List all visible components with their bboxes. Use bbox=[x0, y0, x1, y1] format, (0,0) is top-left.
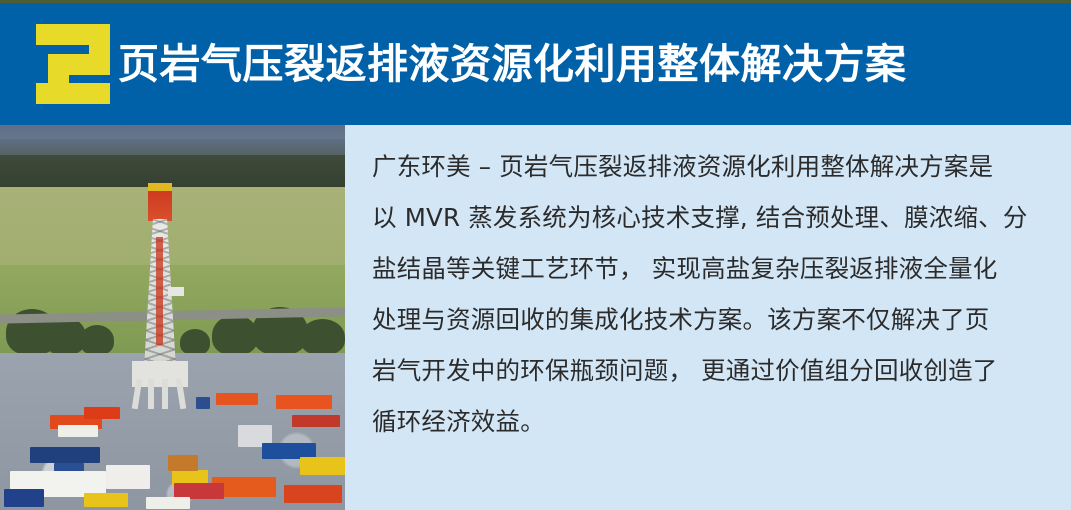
description-line: 处理与资源回收的集成化技术方案。该方案不仅解决了页 bbox=[372, 294, 1048, 345]
photo-equipment-unit bbox=[300, 457, 345, 475]
drilling-rig-photo bbox=[0, 125, 345, 510]
section-body: 广东环美 – 页岩气压裂返排液资源化利用整体解决方案是 以 MVR 蒸发系统为核… bbox=[0, 125, 1071, 510]
photo-drilling-derrick bbox=[142, 183, 178, 383]
derrick-legs bbox=[132, 379, 188, 409]
photo-equipment-unit bbox=[276, 395, 332, 409]
description-text: 广东环美 – 页岩气压裂返排液资源化利用整体解决方案是 以 MVR 蒸发系统为核… bbox=[372, 141, 1048, 447]
photo-equipment-unit bbox=[284, 485, 342, 503]
photo-equipment-unit bbox=[84, 493, 128, 507]
photo-equipment-unit bbox=[146, 497, 190, 509]
description-line: 以 MVR 蒸发系统为核心技术支撑, 结合预处理、膜浓缩、分 bbox=[372, 192, 1048, 243]
section-header-banner: 页岩气压裂返排液资源化利用整体解决方案 bbox=[0, 3, 1071, 125]
description-panel: 广东环美 – 页岩气压裂返排液资源化利用整体解决方案是 以 MVR 蒸发系统为核… bbox=[345, 125, 1071, 510]
description-line: 岩气开发中的环保瓶颈问题， 更通过价值组分回收创造了 bbox=[372, 345, 1048, 396]
section-number-2-icon bbox=[36, 24, 110, 104]
description-line: 循环经济效益。 bbox=[372, 396, 1048, 447]
derrick-platform bbox=[168, 287, 184, 296]
photo-equipment-unit bbox=[196, 397, 210, 409]
photo-equipment-unit bbox=[292, 415, 340, 427]
photo-equipment-unit bbox=[4, 489, 44, 507]
photo-equipment-unit bbox=[106, 465, 150, 489]
photo-equipment-unit bbox=[58, 425, 98, 437]
description-line: 盐结晶等关键工艺环节， 实现高盐复杂压裂返排液全量化 bbox=[372, 243, 1048, 294]
photo-equipment-unit bbox=[216, 393, 258, 405]
solution-section-page: 页岩气压裂返排液资源化利用整体解决方案 bbox=[0, 0, 1071, 510]
derrick-upper-red bbox=[148, 191, 172, 221]
photo-equipment-unit bbox=[84, 407, 120, 419]
photo-equipment-unit bbox=[30, 447, 100, 463]
derrick-red-stripe bbox=[156, 237, 163, 345]
section-title: 页岩气压裂返排液资源化利用整体解决方案 bbox=[118, 44, 907, 85]
photo-equipment-unit bbox=[168, 455, 198, 471]
description-line: 广东环美 – 页岩气压裂返排液资源化利用整体解决方案是 bbox=[372, 141, 1048, 192]
